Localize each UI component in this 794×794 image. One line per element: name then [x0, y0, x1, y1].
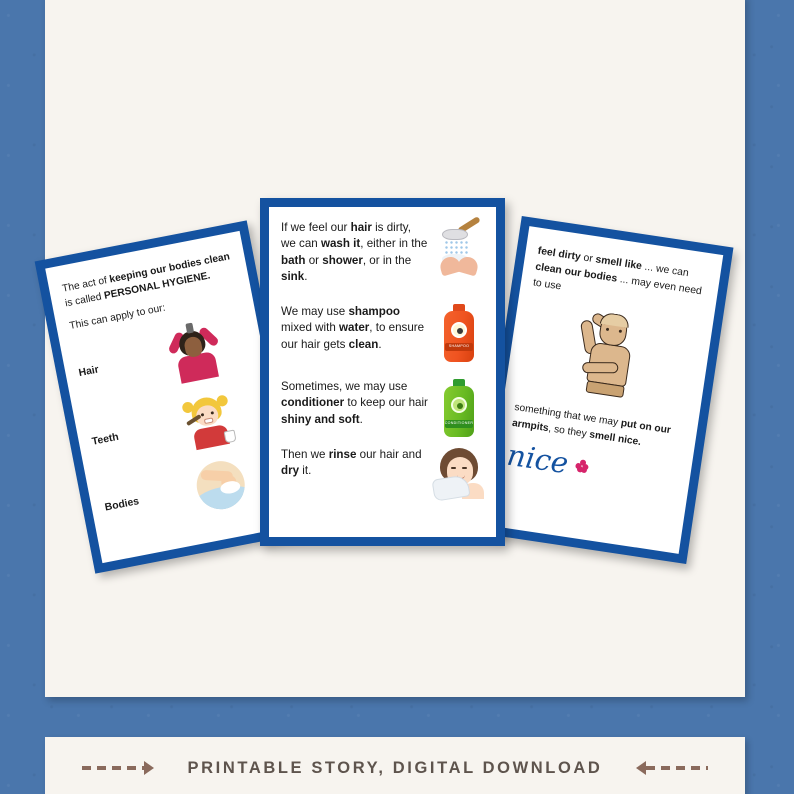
paragraph-row: We may use shampoo mixed with water, to … — [281, 304, 486, 362]
man-applying-deodorant-icon — [517, 300, 701, 416]
text-run: , so they — [548, 423, 591, 440]
paragraph-text-1: We may use shampoo mixed with water, to … — [281, 304, 432, 353]
text-run: If we feel our — [281, 221, 351, 234]
card-stack: The act of keeping our bodies clean is c… — [45, 190, 745, 580]
card-center-sheet: If we feel our hair is dirty, we can was… — [269, 207, 496, 537]
bold-run: shampoo — [348, 305, 400, 318]
text-run: . — [378, 338, 381, 351]
item-label-hair: Hair — [78, 357, 141, 380]
bold-run: shower — [322, 254, 363, 267]
text-run: Sometimes, we may use — [281, 380, 407, 393]
item-label-teeth: Teeth — [91, 425, 154, 448]
text-run: . — [360, 413, 363, 426]
lead-text-b: is called — [64, 291, 105, 309]
bold-run: wash it — [321, 237, 360, 250]
bottom-ribbon: PRINTABLE STORY, DIGITAL DOWNLOAD — [45, 737, 745, 794]
ribbon-label: PRINTABLE STORY, DIGITAL DOWNLOAD — [188, 759, 603, 778]
poster-canvas: 9 PAGES OF ENGAGING CONTENT PERSONAL HYG… — [0, 0, 794, 794]
text-run: . — [304, 270, 307, 283]
flower-icon — [575, 458, 590, 473]
paragraph-row: Then we rinse our hair and dry it. — [281, 447, 486, 499]
dashed-arrow-right-icon — [82, 761, 154, 775]
bold-run: shiny and soft — [281, 413, 360, 426]
card-center-body: If we feel our hair is dirty, we can was… — [269, 207, 496, 518]
script-text: nice — [505, 438, 571, 481]
bold-run: water — [339, 321, 369, 334]
text-run: mixed with — [281, 321, 339, 334]
shower-head-icon — [432, 220, 486, 276]
text-run: We may use — [281, 305, 348, 318]
dashed-arrow-left-icon — [636, 761, 708, 775]
bold-run: hair — [351, 221, 372, 234]
paragraph-text-2: Sometimes, we may use conditioner to kee… — [281, 379, 432, 428]
bold-run: smell like — [595, 254, 643, 272]
bold-run: bath — [281, 254, 305, 267]
drying-hair-icon — [432, 447, 486, 499]
bold-run: feel dirty — [537, 246, 581, 263]
girl-brushing-teeth-icon — [148, 383, 267, 457]
paragraph-text-3: Then we rinse our hair and dry it. — [281, 447, 432, 480]
card-right-sheet: feel dirty or smell like ... we can clea… — [485, 226, 723, 554]
bold-run: rinse — [329, 448, 357, 461]
item-label-bodies: Bodies — [104, 491, 167, 514]
text-run: , or in the — [363, 254, 411, 267]
woman-brushing-hair-icon — [134, 312, 254, 390]
text-run: to keep our hair — [344, 396, 428, 409]
text-run: ... we can — [641, 261, 689, 279]
bold-run: smell nice. — [589, 430, 642, 449]
text-run: it. — [299, 464, 311, 477]
bold-run: dry — [281, 464, 299, 477]
card-right-body: feel dirty or smell like ... we can clea… — [492, 226, 724, 508]
conditioner-bottle-icon: CONDITIONER — [432, 379, 486, 439]
bold-run: conditioner — [281, 396, 344, 409]
bold-run: clean — [349, 338, 379, 351]
text-run: , either in the — [360, 237, 427, 250]
text-run: or — [305, 254, 322, 267]
preview-card-right[interactable]: feel dirty or smell like ... we can clea… — [475, 216, 734, 564]
preview-card-center[interactable]: If we feel our hair is dirty, we can was… — [260, 198, 505, 546]
paragraph-text-0: If we feel our hair is dirty, we can was… — [281, 220, 432, 286]
bold-run: sink — [281, 270, 304, 283]
paragraph-row: Sometimes, we may use conditioner to kee… — [281, 379, 486, 439]
shampoo-bottle-icon: SHAMPOO — [432, 304, 486, 362]
text-run: our hair and — [356, 448, 421, 461]
card-left-body: The act of keeping our bodies clean is c… — [45, 231, 293, 546]
text-run: Then we — [281, 448, 329, 461]
paragraph-row: If we feel our hair is dirty, we can was… — [281, 220, 486, 286]
